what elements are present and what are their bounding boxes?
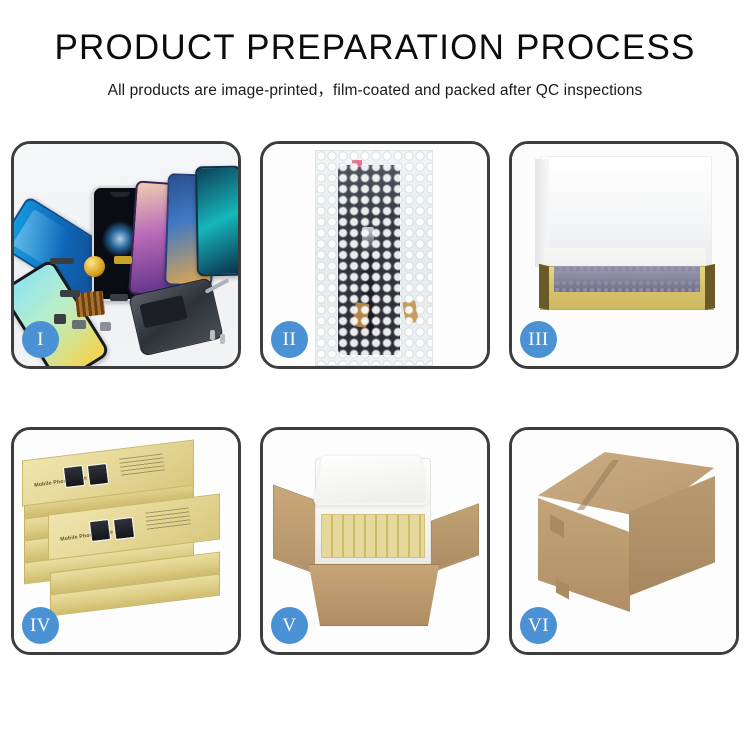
box-screen-print-a2	[87, 463, 109, 486]
page-subtitle: All products are image-printed，film-coat…	[0, 78, 750, 100]
speaker-module	[84, 256, 105, 277]
screw-2	[220, 334, 225, 344]
bubble-bag	[315, 150, 433, 366]
small-part-6	[72, 320, 86, 329]
teal-gradient-phone	[195, 166, 238, 277]
yellow-boxes-in-foam	[321, 514, 425, 558]
step-panel-3: III	[509, 141, 739, 369]
grey-foam-padding	[554, 266, 700, 292]
step-panel-1: I	[11, 141, 241, 369]
header: PRODUCT PREPARATION PROCESS All products…	[0, 0, 750, 100]
screw-1	[210, 330, 215, 340]
carton-body	[303, 564, 445, 626]
box-screen-print-b2	[113, 517, 135, 540]
small-part-7	[100, 322, 111, 331]
step-panel-2: II	[260, 141, 490, 369]
small-part-5	[54, 314, 66, 324]
small-part-2	[114, 256, 132, 264]
step-badge-1: I	[22, 321, 59, 358]
step-panel-6: VI	[509, 427, 739, 655]
small-part-4	[110, 294, 128, 301]
step-badge-3: III	[520, 321, 557, 358]
foam-box-lid	[313, 454, 429, 505]
step-panel-4: Mobile Phone Spare Parts Mobile Phone Sp…	[11, 427, 241, 655]
box-screen-print-a1	[63, 465, 85, 488]
box-screen-print-b1	[89, 519, 111, 542]
page-title: PRODUCT PREPARATION PROCESS	[0, 30, 750, 67]
step-badge-6: VI	[520, 607, 557, 644]
small-part-1	[50, 258, 74, 264]
step-panel-5: V	[260, 427, 490, 655]
product-preparation-infographic: PRODUCT PREPARATION PROCESS All products…	[0, 0, 750, 750]
step-badge-2: II	[271, 321, 308, 358]
carton-flap-right	[431, 503, 479, 572]
step-badge-5: V	[271, 607, 308, 644]
bubble-texture	[316, 151, 432, 365]
small-part-3	[60, 290, 80, 297]
steps-grid: I II III	[11, 141, 739, 655]
step-badge-4: IV	[22, 607, 59, 644]
